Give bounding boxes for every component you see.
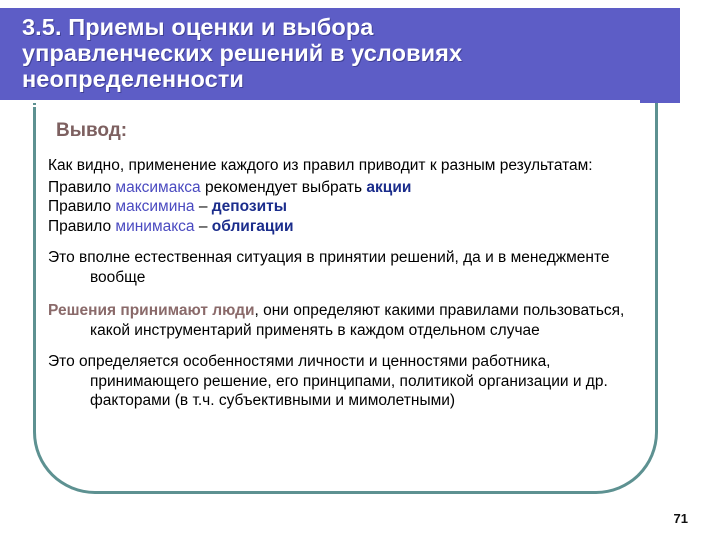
rule-minimax-prefix: Правило	[48, 218, 115, 235]
people-decide-lead: Решения принимают люди	[48, 302, 254, 319]
slide-canvas: 3.5. Приемы оценки и выбора управленческ…	[0, 0, 720, 540]
body-paragraph-intro-text: Как видно, применение каждого из правил …	[48, 157, 593, 174]
rule-minimax-middle: –	[195, 218, 212, 235]
rule-maximax-name: максимакса	[115, 179, 200, 196]
title-divider-line-secondary	[0, 105, 640, 107]
rule-maximax-middle: рекомендует выбрать	[201, 179, 367, 196]
rule-line-minimax: Правило минимакса – облигации	[48, 217, 648, 237]
rule-maximax-prefix: Правило	[48, 179, 115, 196]
body-paragraph-personality-factors-text: Это определяется особенностями личности …	[48, 353, 608, 409]
rule-maximin-middle: –	[195, 198, 212, 215]
rule-line-maximax: Правило максимакса рекомендует выбрать а…	[48, 178, 648, 198]
body-paragraph-natural-situation: Это вполне естественная ситуация в приня…	[48, 248, 648, 287]
body-paragraph-natural-situation-text: Это вполне естественная ситуация в приня…	[48, 249, 610, 286]
conclusion-heading: Вывод:	[56, 120, 648, 142]
rule-maximin-prefix: Правило	[48, 198, 115, 215]
rule-maximin-name: максимина	[115, 198, 194, 215]
page-title: 3.5. Приемы оценки и выбора управленческ…	[22, 14, 662, 92]
rule-maximax-result: акции	[366, 179, 411, 196]
rule-maximin-result: депозиты	[212, 198, 287, 215]
title-divider-line	[0, 100, 640, 103]
body-paragraph-intro: Как видно, применение каждого из правил …	[48, 156, 648, 176]
rule-minimax-name: минимакса	[115, 218, 194, 235]
rule-minimax-result: облигации	[212, 218, 294, 235]
slide-body: Вывод: Как видно, применение каждого из …	[48, 120, 648, 413]
page-number: 71	[674, 511, 688, 526]
rule-line-maximin: Правило максимина – депозиты	[48, 197, 648, 217]
slide-title-bar: 3.5. Приемы оценки и выбора управленческ…	[0, 8, 680, 103]
body-paragraph-people-decide: Решения принимают люди, они определяют к…	[48, 301, 648, 340]
body-paragraph-personality-factors: Это определяется особенностями личности …	[48, 352, 648, 411]
